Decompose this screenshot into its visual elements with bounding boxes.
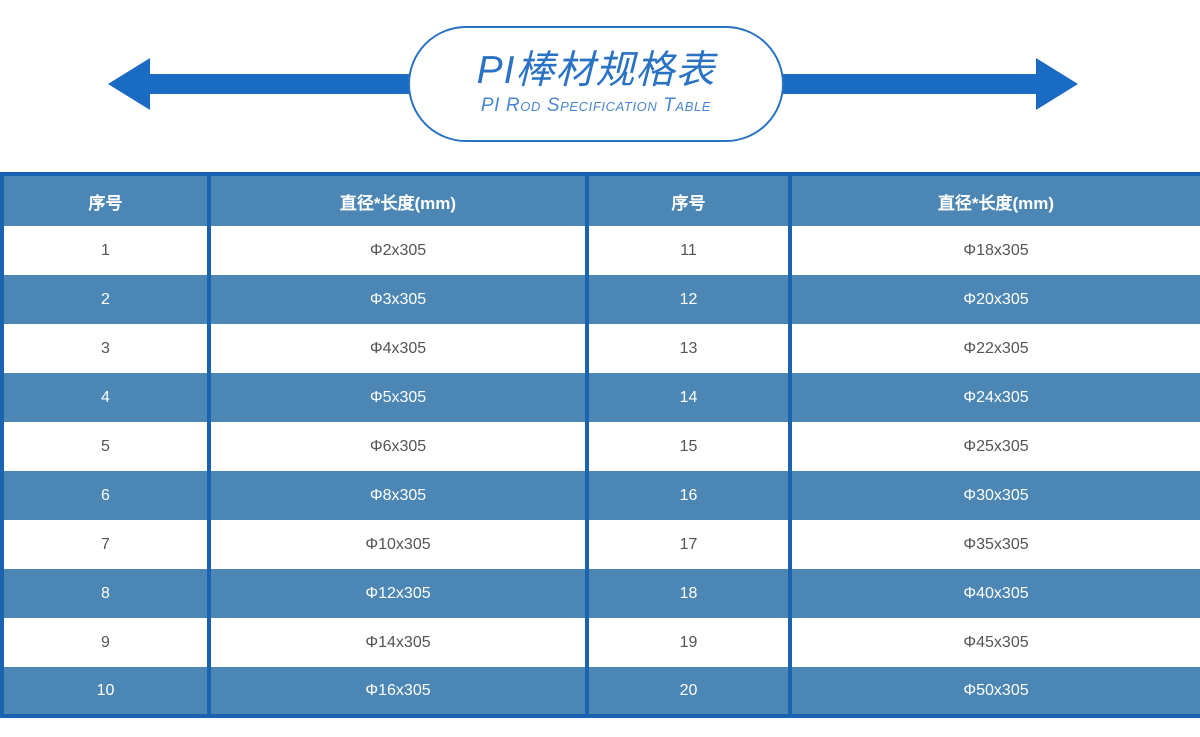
cell-spec-right: Φ35x305 <box>790 520 1200 569</box>
table-row: 1 Φ2x305 11 Φ18x305 <box>2 226 1200 275</box>
cell-spec-right: Φ40x305 <box>790 569 1200 618</box>
cell-spec-right: Φ18x305 <box>790 226 1200 275</box>
cell-spec-left: Φ2x305 <box>209 226 587 275</box>
table-row: 3 Φ4x305 13 Φ22x305 <box>2 324 1200 373</box>
cell-no-right: 16 <box>587 471 790 520</box>
cell-spec-right: Φ25x305 <box>790 422 1200 471</box>
cell-no-right: 18 <box>587 569 790 618</box>
table-row: 9 Φ14x305 19 Φ45x305 <box>2 618 1200 667</box>
cell-no-left: 10 <box>2 667 209 716</box>
cell-no-right: 12 <box>587 275 790 324</box>
cell-no-left: 5 <box>2 422 209 471</box>
cell-spec-left: Φ6x305 <box>209 422 587 471</box>
cell-no-left: 1 <box>2 226 209 275</box>
column-header-spec-right: 直径*长度(mm) <box>790 174 1200 226</box>
cell-no-right: 15 <box>587 422 790 471</box>
cell-spec-right: Φ50x305 <box>790 667 1200 716</box>
cell-spec-left: Φ16x305 <box>209 667 587 716</box>
cell-spec-right: Φ22x305 <box>790 324 1200 373</box>
cell-spec-right: Φ20x305 <box>790 275 1200 324</box>
table-row: 2 Φ3x305 12 Φ20x305 <box>2 275 1200 324</box>
table-body: 1 Φ2x305 11 Φ18x305 2 Φ3x305 12 Φ20x305 … <box>2 226 1200 716</box>
table-header-row: 序号 直径*长度(mm) 序号 直径*长度(mm) <box>2 174 1200 226</box>
cell-no-right: 20 <box>587 667 790 716</box>
column-header-no-left: 序号 <box>2 174 209 226</box>
cell-spec-left: Φ8x305 <box>209 471 587 520</box>
cell-no-left: 4 <box>2 373 209 422</box>
cell-spec-left: Φ10x305 <box>209 520 587 569</box>
table-header: 序号 直径*长度(mm) 序号 直径*长度(mm) <box>2 174 1200 226</box>
table-row: 7 Φ10x305 17 Φ35x305 <box>2 520 1200 569</box>
cell-spec-left: Φ5x305 <box>209 373 587 422</box>
cell-spec-right: Φ45x305 <box>790 618 1200 667</box>
table-row: 4 Φ5x305 14 Φ24x305 <box>2 373 1200 422</box>
column-header-no-right: 序号 <box>587 174 790 226</box>
cell-spec-left: Φ12x305 <box>209 569 587 618</box>
specification-table: 序号 直径*长度(mm) 序号 直径*长度(mm) 1 Φ2x305 11 Φ1… <box>0 172 1200 718</box>
table-row: 10 Φ16x305 20 Φ50x305 <box>2 667 1200 716</box>
cell-no-right: 17 <box>587 520 790 569</box>
table-row: 5 Φ6x305 15 Φ25x305 <box>2 422 1200 471</box>
cell-spec-left: Φ3x305 <box>209 275 587 324</box>
cell-no-left: 3 <box>2 324 209 373</box>
page-root: PI棒材规格表 PI Rod Specification Table 序号 直径… <box>0 0 1200 737</box>
cell-no-left: 8 <box>2 569 209 618</box>
page-title: PI棒材规格表 <box>477 51 716 92</box>
arrow-right-icon <box>772 58 1078 110</box>
cell-no-right: 14 <box>587 373 790 422</box>
cell-spec-left: Φ14x305 <box>209 618 587 667</box>
title-box: PI棒材规格表 PI Rod Specification Table <box>408 26 784 142</box>
cell-no-left: 9 <box>2 618 209 667</box>
cell-spec-right: Φ30x305 <box>790 471 1200 520</box>
cell-no-left: 7 <box>2 520 209 569</box>
cell-spec-left: Φ4x305 <box>209 324 587 373</box>
cell-no-right: 11 <box>587 226 790 275</box>
arrow-left-icon <box>108 58 420 110</box>
table-row: 8 Φ12x305 18 Φ40x305 <box>2 569 1200 618</box>
table-row: 6 Φ8x305 16 Φ30x305 <box>2 471 1200 520</box>
cell-no-right: 13 <box>587 324 790 373</box>
cell-no-left: 6 <box>2 471 209 520</box>
cell-no-left: 2 <box>2 275 209 324</box>
column-header-spec-left: 直径*长度(mm) <box>209 174 587 226</box>
cell-no-right: 19 <box>587 618 790 667</box>
page-subtitle: PI Rod Specification Table <box>481 95 711 117</box>
header-banner: PI棒材规格表 PI Rod Specification Table <box>0 0 1200 168</box>
cell-spec-right: Φ24x305 <box>790 373 1200 422</box>
